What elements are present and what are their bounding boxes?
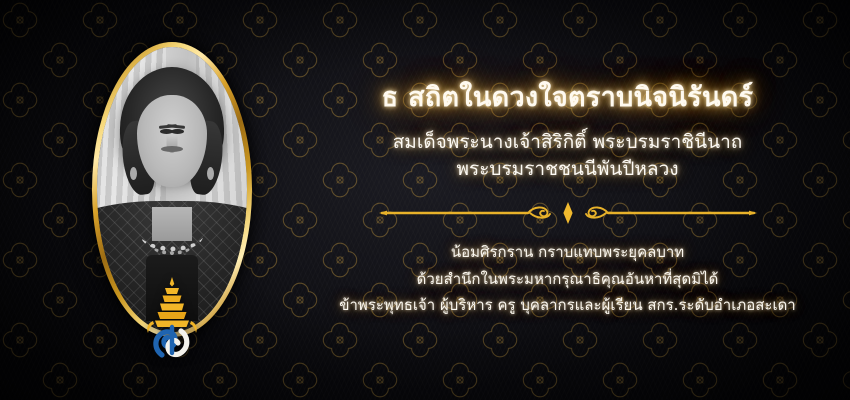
tribute-line-1: น้อมศิรกราน กราบแทบพระยุคลบาท [339, 240, 795, 266]
subtitle-line-2: พระบรมราชชนนีพันปีหลวง [393, 156, 743, 184]
tribute-block: น้อมศิรกราน กราบแทบพระยุคลบาท ด้วยสำนึกใ… [339, 240, 795, 319]
ornamental-divider [378, 200, 758, 226]
subtitle-block: สมเด็จพระนางเจ้าสิริกิติ์ พระบรมราชินีนา… [393, 129, 743, 184]
tribute-line-3: ข้าพระพุทธเจ้า ผู้บริหาร ครู บุคลากรและผ… [339, 293, 795, 319]
tribute-line-2: ด้วยสำนึกในพระมหากรุณาธิคุณอันหาที่สุดมิ… [339, 267, 795, 293]
page-title: ธ สถิตในดวงใจตราบนิจนิรันดร์ [382, 81, 754, 115]
portrait [92, 42, 252, 337]
royal-cypher-icon [135, 275, 209, 359]
divider-diamond-icon [563, 202, 572, 224]
subtitle-line-1: สมเด็จพระนางเจ้าสิริกิติ์ พระบรมราชินีนา… [393, 129, 743, 157]
memorial-banner: ธ สถิตในดวงใจตราบนิจนิรันดร์ สมเด็จพระนา… [0, 0, 850, 400]
text-content: ธ สถิตในดวงใจตราบนิจนิรันดร์ สมเด็จพระนา… [285, 0, 850, 400]
crown-icon [147, 277, 197, 333]
